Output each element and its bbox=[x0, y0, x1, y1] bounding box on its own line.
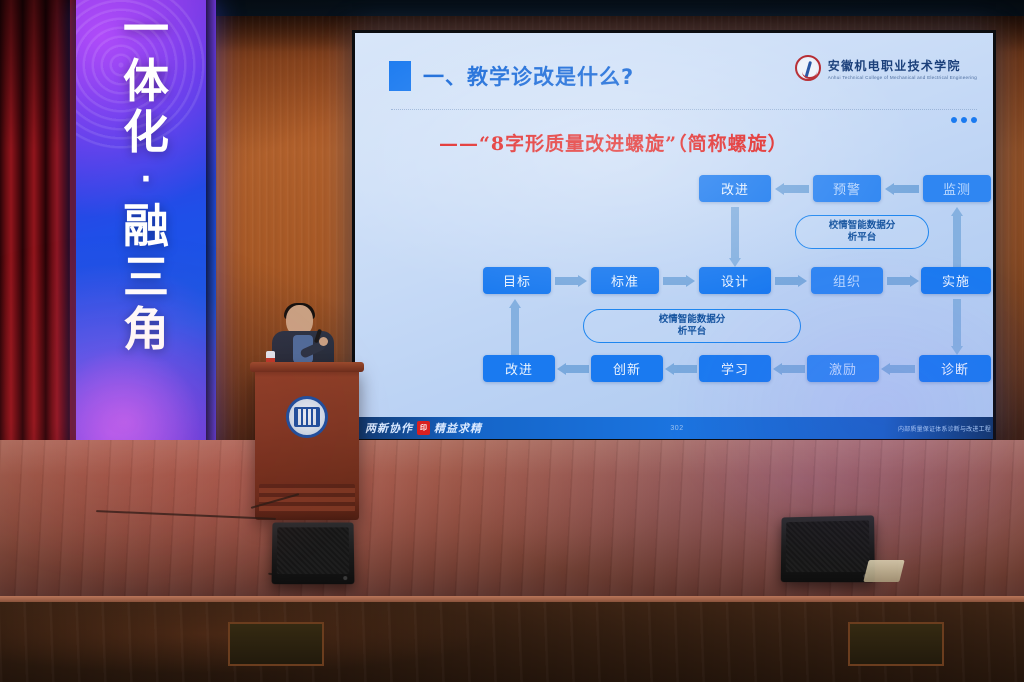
node-mid-organize: 组织 bbox=[811, 267, 883, 294]
arrow-motivate-to-learn bbox=[773, 363, 805, 375]
arrow-diagnose-to-motivate bbox=[881, 363, 915, 375]
school-crest-emblem-icon bbox=[286, 396, 328, 438]
banner-char-2: 体 bbox=[123, 56, 169, 108]
led-vertical-banner: 一 体 化 · 融 三 角 bbox=[76, 0, 216, 452]
arrow-learn-to-innovate bbox=[665, 363, 697, 375]
school-name-cn: 安徽机电职业技术学院 bbox=[828, 57, 977, 74]
slide-subtitle: ——“8字形质量改进螺旋”（简称螺旋） bbox=[439, 129, 788, 156]
node-bot-motivate: 激励 bbox=[807, 355, 879, 382]
arrow-improve-to-goal bbox=[509, 299, 521, 355]
slide-title: 一、教学诊改是什么? bbox=[423, 61, 634, 91]
footer-project-name: 内部质量保证体系诊断与改进工程 bbox=[898, 424, 991, 433]
footer-calligraphy-left: 两新协作 bbox=[365, 420, 413, 436]
node-bot-innovate: 创新 bbox=[591, 355, 663, 382]
floor-plate bbox=[863, 560, 904, 582]
slide-page-number: 302 bbox=[670, 425, 683, 432]
school-crest-icon bbox=[795, 55, 821, 81]
red-seal-icon: 印 bbox=[417, 421, 430, 435]
node-bot-diagnose: 诊断 bbox=[919, 355, 991, 382]
platform-lower: 校情智能数据分析平台 bbox=[583, 309, 801, 343]
node-mid-design: 设计 bbox=[699, 267, 771, 294]
node-top-monitor: 监测 bbox=[923, 175, 991, 202]
banner-char-1: 一 bbox=[123, 4, 169, 56]
arrow-organize-to-implement bbox=[887, 275, 919, 287]
spiral-flow-diagram: 改进 预警 监测 校情智能数据分析平台 bbox=[355, 165, 993, 405]
node-top-improve: 改进 bbox=[699, 175, 771, 202]
lectern-base-slats bbox=[259, 484, 355, 512]
footer-calligraphy: 两新协作 印 精益求精 bbox=[365, 420, 482, 436]
arrow-improve-to-design bbox=[729, 207, 741, 267]
arrow-goal-to-standard bbox=[555, 275, 587, 287]
title-square-marker bbox=[389, 61, 411, 91]
projection-screen: 一、教学诊改是什么? 安徽机电职业技术学院 Anhui Technical Co… bbox=[352, 30, 996, 442]
banner-char-4: · bbox=[140, 159, 151, 201]
banner-char-5: 融 bbox=[123, 201, 169, 253]
arrow-implement-to-diagnose bbox=[951, 299, 963, 355]
stage-vent-grille-left bbox=[228, 622, 324, 666]
presentation-slide: 一、教学诊改是什么? 安徽机电职业技术学院 Anhui Technical Co… bbox=[355, 33, 993, 439]
stage-vent-grille-right bbox=[848, 622, 944, 666]
auditorium-scene: 一 体 化 · 融 三 角 一、教学诊改是什么? 安徽机电职业技术学院 Anhu… bbox=[0, 0, 1024, 682]
presenter-hand bbox=[319, 337, 328, 346]
node-mid-goal: 目标 bbox=[483, 267, 551, 294]
banner-char-3: 化 bbox=[123, 107, 169, 159]
speaker-grille bbox=[786, 520, 870, 572]
node-mid-standard: 标准 bbox=[591, 267, 659, 294]
school-logo-text: 安徽机电职业技术学院 Anhui Technical College of Me… bbox=[828, 57, 977, 80]
power-led-icon bbox=[343, 576, 347, 580]
footer-calligraphy-right: 精益求精 bbox=[434, 420, 482, 436]
school-logo: 安徽机电职业技术学院 Anhui Technical College of Me… bbox=[795, 55, 977, 81]
arrow-innovate-to-improve bbox=[557, 363, 589, 375]
slide-title-row: 一、教学诊改是什么? bbox=[389, 61, 634, 91]
stage-monitor-right bbox=[781, 515, 875, 582]
arrow-warning-to-improve bbox=[775, 183, 809, 195]
banner-right-shadow bbox=[206, 0, 218, 452]
node-mid-implement: 实施 bbox=[921, 267, 991, 294]
slide-footer: 两新协作 印 精益求精 302 内部质量保证体系诊断与改进工程 bbox=[355, 417, 993, 439]
platform-upper: 校情智能数据分析平台 bbox=[795, 215, 929, 249]
slide-dots-decor bbox=[951, 117, 977, 123]
lectern-top-surface bbox=[250, 362, 364, 372]
arrow-standard-to-design bbox=[663, 275, 695, 287]
node-bot-learn: 学习 bbox=[699, 355, 771, 382]
node-bot-improve: 改进 bbox=[483, 355, 555, 382]
speaker-grille bbox=[277, 527, 350, 574]
arrow-design-to-organize bbox=[775, 275, 807, 287]
banner-char-7: 角 bbox=[123, 304, 169, 356]
banner-char-6: 三 bbox=[123, 252, 169, 304]
arrow-implement-to-monitor bbox=[951, 207, 963, 267]
arrow-monitor-to-warning bbox=[885, 183, 919, 195]
banner-text-column: 一 体 化 · 融 三 角 bbox=[76, 0, 216, 452]
node-top-warning: 预警 bbox=[813, 175, 881, 202]
slide-divider bbox=[391, 109, 977, 110]
stage-monitor-left bbox=[272, 522, 355, 584]
school-name-en: Anhui Technical College of Mechanical an… bbox=[828, 75, 977, 80]
lectern bbox=[255, 368, 359, 520]
